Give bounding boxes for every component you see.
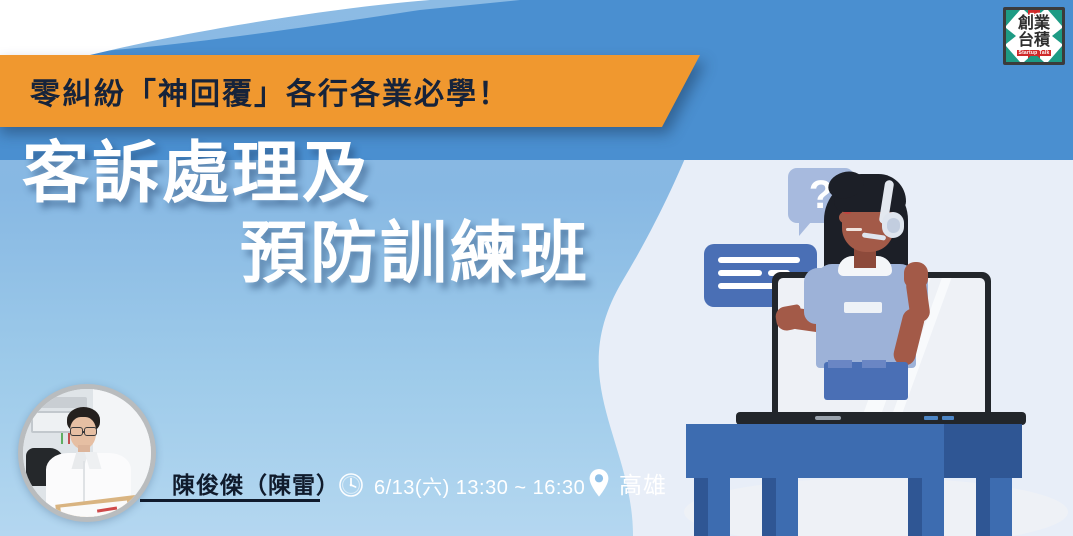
- logo-inner: 創業 台積 Startup Talk: [1006, 10, 1062, 62]
- logo-line-1: 創業: [1018, 16, 1050, 32]
- subtitle-banner: 零糾紛「神回覆」各行各業必學！: [0, 55, 700, 127]
- illustration: ?: [676, 150, 1073, 536]
- avatar-glasses-left: [70, 427, 83, 436]
- agent-belt-right: [862, 360, 886, 368]
- top-left-white-wedge-shape: [0, 0, 700, 62]
- agent-hand-right: [904, 262, 928, 288]
- page-title: 客訴處理及 預防訓練班: [0, 140, 680, 289]
- avatar-glasses-bridge: [82, 431, 85, 433]
- desk-leg-4-inner: [976, 478, 990, 536]
- event-poster: 零糾紛「神回覆」各行各業必學！ 客訴處理及 預防訓練班 陳俊傑（陳雷）: [0, 0, 1073, 536]
- laptop-trackpad-notch: [815, 416, 841, 420]
- chat-line-1: [718, 257, 800, 263]
- location-pin-icon: [588, 468, 610, 498]
- logo-text-block: 創業 台積 Startup Talk: [1006, 10, 1062, 62]
- desk-leg-2-inner: [762, 478, 776, 536]
- desk-leg-1-inner: [694, 478, 708, 536]
- laptop-port-2: [942, 416, 954, 420]
- desk-apron-right: [944, 456, 1022, 478]
- subtitle-banner-text: 零糾紛「神回覆」各行各業必學！: [0, 55, 662, 127]
- agent-sleeve-left: [804, 268, 838, 324]
- title-line-2: 預防訓練班: [0, 220, 680, 288]
- desk-leg-3-inner: [908, 478, 922, 536]
- speaker-name: 陳俊傑（陳雷）: [172, 466, 340, 500]
- clock-icon: [338, 472, 364, 498]
- organization-logo[interactable]: 創業 台積 Startup Talk: [1003, 7, 1065, 65]
- agent-name-badge: [844, 302, 882, 313]
- speaker-name-underline: [140, 499, 320, 502]
- avatar-wire-green: [61, 433, 63, 445]
- chat-line-2: [718, 270, 762, 276]
- title-line-1: 客訴處理及: [0, 140, 680, 208]
- desk-top-right: [944, 424, 1022, 456]
- agent-belt-left: [828, 360, 852, 368]
- logo-subtitle: Startup Talk: [1017, 50, 1052, 56]
- speaker-avatar: [18, 384, 156, 522]
- logo-line-2: 台積: [1018, 33, 1050, 49]
- event-location-text: 高雄: [619, 466, 667, 500]
- event-datetime: 6/13(六) 13:30 ~ 16:30: [338, 468, 585, 502]
- avatar-glasses-right: [84, 427, 97, 436]
- headset-earcup-inner: [887, 218, 900, 233]
- event-datetime-text: 6/13(六) 13:30 ~ 16:30: [374, 471, 585, 500]
- laptop-port-1: [924, 416, 938, 420]
- event-location: 高雄: [588, 466, 667, 500]
- agent-mouth: [846, 228, 862, 231]
